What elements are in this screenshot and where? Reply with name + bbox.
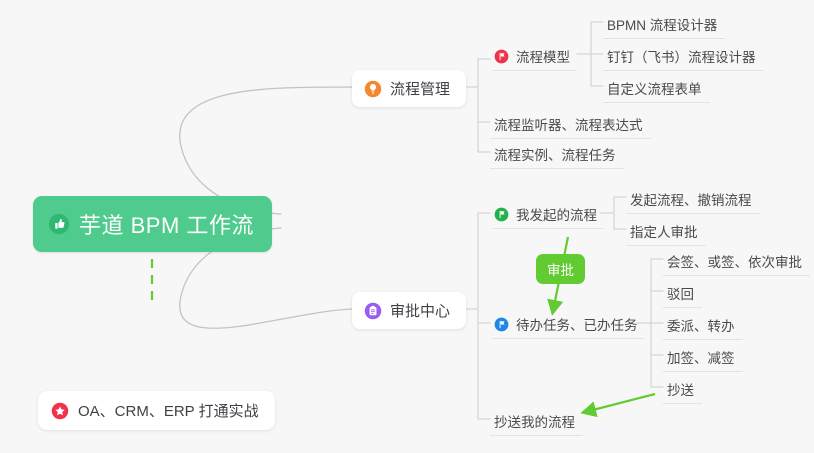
node-label-my-initiated: 我发起的流程 <box>516 204 597 224</box>
flag-icon <box>494 207 509 222</box>
root-node[interactable]: 芋道 BPM 工作流 <box>33 196 272 252</box>
branch-label-process-management: 流程管理 <box>390 78 450 99</box>
approval-center-subtree-lines <box>463 213 490 419</box>
process-model-subtree-lines <box>577 22 603 86</box>
leaf-cc[interactable]: 抄送 <box>663 376 702 404</box>
node-todo-done[interactable]: 待办任务、已办任务 <box>492 311 644 339</box>
clipboard-icon <box>364 302 382 320</box>
node-label-todo-done: 待办任务、已办任务 <box>516 314 638 334</box>
root-label: 芋道 BPM 工作流 <box>79 208 254 240</box>
leaf-cc-to-me[interactable]: 抄送我的流程 <box>490 408 583 436</box>
leaf-dingtalk-feishu-designer[interactable]: 钉钉（飞书）流程设计器 <box>603 43 764 71</box>
leaf-custom-process-form[interactable]: 自定义流程表单 <box>603 75 710 103</box>
free-node-oa-crm-erp[interactable]: OA、CRM、ERP 打通实战 <box>38 391 275 430</box>
branch-label-approval-center: 审批中心 <box>390 300 450 321</box>
free-node-label-oa-crm-erp: OA、CRM、ERP 打通实战 <box>78 400 259 421</box>
leaf-instance-task[interactable]: 流程实例、流程任务 <box>490 141 624 169</box>
process-management-subtree-lines <box>463 59 490 152</box>
branch-node-approval-center[interactable]: 审批中心 <box>352 292 466 329</box>
leaf-reject[interactable]: 驳回 <box>663 280 702 308</box>
star-icon <box>51 402 69 420</box>
leaf-start-cancel[interactable]: 发起流程、撤销流程 <box>626 186 760 214</box>
arrow-cc-to-ccmine <box>585 394 655 412</box>
flag-icon <box>494 49 509 64</box>
flag-icon <box>494 317 509 332</box>
annotation-badge-approval: 审批 <box>536 254 585 284</box>
node-label-process-model: 流程模型 <box>516 46 570 66</box>
leaf-bpmn-designer[interactable]: BPMN 流程设计器 <box>603 11 725 39</box>
leaf-countersign[interactable]: 会签、或签、依次审批 <box>663 248 810 276</box>
leaf-add-remove-sign[interactable]: 加签、减签 <box>663 344 743 372</box>
leaf-delegate-transfer[interactable]: 委派、转办 <box>663 312 743 340</box>
my-initiated-subtree-lines <box>600 197 626 229</box>
branch-node-process-management[interactable]: 流程管理 <box>352 70 466 107</box>
thumbs-up-icon <box>48 213 70 235</box>
node-process-model[interactable]: 流程模型 <box>492 43 576 71</box>
node-my-initiated[interactable]: 我发起的流程 <box>492 201 603 229</box>
mindmap-canvas: 芋道 BPM 工作流 流程管理 流程模型 BPMN 流程设计器 钉钉（飞书）流程… <box>0 0 814 453</box>
leaf-assignee-approval[interactable]: 指定人审批 <box>626 218 706 246</box>
leaf-listener-expression[interactable]: 流程监听器、流程表达式 <box>490 111 651 139</box>
lightbulb-icon <box>364 80 382 98</box>
